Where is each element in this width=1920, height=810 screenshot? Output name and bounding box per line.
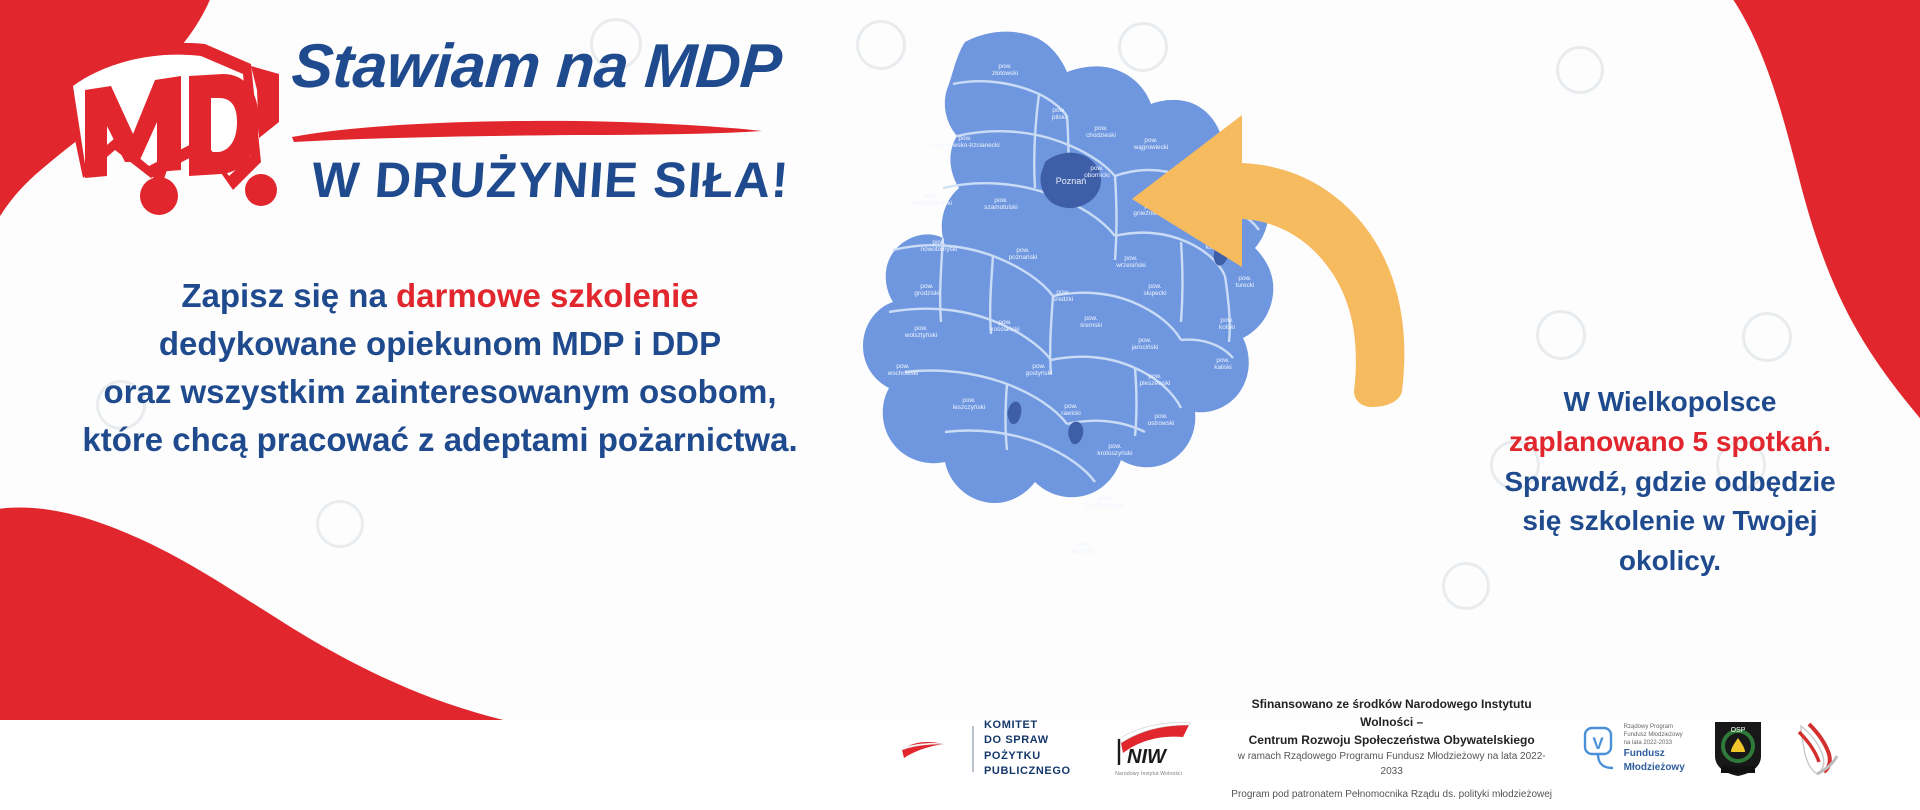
- svg-text:pow.: pow.: [994, 197, 1007, 204]
- svg-text:pilski: pilski: [1052, 114, 1066, 121]
- map-capital-label: Poznań: [1056, 176, 1087, 186]
- svg-text:szamotulski: szamotulski: [984, 204, 1017, 211]
- funding-text: Sfinansowano ze środków Narodowego Insty…: [1227, 695, 1557, 802]
- svg-text:NIW: NIW: [1127, 746, 1168, 768]
- right-line-1: W Wielkopolsce: [1450, 382, 1890, 422]
- fundusz-mlodziezowy-logo: V Rządowy Program Fundusz Młodzieżowy na…: [1583, 723, 1685, 774]
- svg-text:pow.: pow.: [924, 193, 937, 200]
- svg-text:pow.: pow.: [1076, 541, 1089, 548]
- komitet-line-2: DO SPRAW: [984, 733, 1071, 748]
- komitet-text: KOMITET DO SPRAW POŻYTKU PUBLICZNEGO: [984, 718, 1071, 779]
- komitet-line-3: POŻYTKU: [984, 749, 1071, 764]
- footer-divider: [972, 726, 974, 772]
- zosp-emblem-icon: [1791, 720, 1843, 778]
- svg-text:pow.: pow.: [962, 397, 975, 404]
- body-line-2: dedykowane opiekunom MDP i DDP: [60, 320, 820, 368]
- niw-logo: NIW Narodowy Instytut Wolności: [1097, 721, 1201, 777]
- decor-circle: [1556, 46, 1604, 94]
- svg-text:międzychodzki: międzychodzki: [910, 200, 952, 207]
- right-line-5: okolicy.: [1450, 541, 1890, 581]
- komitet-line-4: PUBLICZNEGO: [984, 764, 1071, 779]
- body-line-1: Zapisz się na darmowe szkolenie: [60, 272, 820, 320]
- svg-text:gostyński: gostyński: [1026, 370, 1053, 377]
- svg-text:ostrzeszowski: ostrzeszowski: [1085, 502, 1125, 509]
- svg-text:pow.: pow.: [1098, 495, 1111, 502]
- svg-text:rawicki: rawicki: [1061, 410, 1081, 417]
- body-line-4: które chcą pracować z adeptami pożarnict…: [60, 416, 820, 464]
- svg-text:czarnkowsko-trzcianecki: czarnkowsko-trzcianecki: [930, 142, 999, 149]
- body-line-1-highlight: darmowe szkolenie: [396, 277, 699, 314]
- right-line-2-highlight: zaplanowano 5 spotkań.: [1450, 422, 1890, 462]
- svg-text:złotowski: złotowski: [992, 70, 1018, 77]
- right-copy: W Wielkopolsce zaplanowano 5 spotkań. Sp…: [1450, 382, 1890, 581]
- svg-text:wolsztyński: wolsztyński: [904, 332, 937, 339]
- svg-text:pow.: pow.: [1064, 403, 1077, 410]
- svg-text:nowotomyski: nowotomyski: [921, 246, 958, 253]
- fundusz-top-1: Rządowy Program: [1624, 723, 1685, 731]
- osp-label: OSP: [1730, 727, 1745, 734]
- svg-text:śremski: śremski: [1080, 322, 1102, 329]
- page-title: Stawiam na MDP: [290, 36, 783, 98]
- svg-text:pow.: pow.: [998, 63, 1011, 70]
- mdp-logo: [55, 30, 295, 215]
- svg-text:leszczyński: leszczyński: [953, 404, 985, 411]
- svg-text:wschowski: wschowski: [887, 370, 919, 377]
- svg-text:pow.: pow.: [1084, 315, 1097, 322]
- svg-text:kępiński: kępiński: [1071, 548, 1094, 555]
- svg-text:pow.: pow.: [1090, 165, 1103, 172]
- funding-line-4: Program pod patronatem Pełnomocnika Rząd…: [1227, 787, 1557, 802]
- footer-logos: KOMITET DO SPRAW POŻYTKU PUBLICZNEGO NIW…: [900, 695, 1843, 802]
- svg-text:pow.: pow.: [1032, 363, 1045, 370]
- svg-text:poznański: poznański: [1009, 254, 1038, 261]
- svg-text:V: V: [1592, 734, 1604, 753]
- svg-text:krotoszyński: krotoszyński: [1097, 450, 1132, 457]
- body-line-1-plain: Zapisz się na: [181, 277, 396, 314]
- svg-text:pow.: pow.: [958, 135, 971, 142]
- fundusz-name-1: Fundusz: [1624, 747, 1685, 761]
- svg-text:pow.: pow.: [1052, 107, 1065, 114]
- osp-badge-icon: OSP: [1711, 718, 1765, 780]
- svg-text:pow.: pow.: [1016, 247, 1029, 254]
- funding-line-1: Sfinansowano ze środków Narodowego Insty…: [1227, 695, 1557, 731]
- fundusz-name-2: Młodzieżowy: [1624, 761, 1685, 775]
- svg-text:pow.: pow.: [920, 283, 933, 290]
- right-line-4: się szkolenie w Twojej: [1450, 501, 1890, 541]
- fundusz-top-2: Fundusz Młodzieżowy: [1624, 731, 1685, 739]
- svg-text:grodziski: grodziski: [914, 290, 939, 297]
- body-line-3: oraz wszystkim zainteresowanym osobom,: [60, 368, 820, 416]
- svg-text:pow.: pow.: [932, 239, 945, 246]
- poland-flag-icon: [900, 736, 946, 762]
- v-mark-icon: V: [1583, 726, 1617, 772]
- svg-text:pow.: pow.: [896, 363, 909, 370]
- svg-text:średzki: średzki: [1053, 296, 1073, 303]
- komitet-logo: KOMITET DO SPRAW POŻYTKU PUBLICZNEGO: [972, 718, 1071, 779]
- svg-text:pow.: pow.: [1056, 289, 1069, 296]
- funding-line-3: w ramach Rządowego Programu Fundusz Młod…: [1227, 749, 1557, 779]
- niw-subtitle: Narodowy Instytut Wolności: [1115, 771, 1182, 777]
- right-line-3: Sprawdź, gdzie odbędzie: [1450, 462, 1890, 502]
- fundusz-text: Rządowy Program Fundusz Młodzieżowy na l…: [1624, 723, 1685, 774]
- svg-text:pow.: pow.: [998, 319, 1011, 326]
- svg-text:pow.: pow.: [914, 325, 927, 332]
- decor-circle: [1536, 310, 1586, 360]
- svg-text:pow.: pow.: [1108, 443, 1121, 450]
- body-copy: Zapisz się na darmowe szkolenie dedykowa…: [60, 272, 820, 463]
- komitet-line-1: KOMITET: [984, 718, 1071, 733]
- banner-root: Stawiam na MDP W DRUŻYNIE SIŁA! Zapisz s…: [0, 0, 1920, 810]
- svg-text:kościański: kościański: [990, 326, 1019, 333]
- footer-bar: KOMITET DO SPRAW POŻYTKU PUBLICZNEGO NIW…: [0, 720, 1920, 810]
- fundusz-top-3: na lata 2022-2033: [1624, 739, 1685, 747]
- page-subtitle: W DRUŻYNIE SIŁA!: [310, 155, 791, 205]
- headline-underline: [288, 118, 766, 144]
- svg-text:obornicki: obornicki: [1084, 172, 1110, 179]
- funding-line-2: Centrum Rozwoju Społeczeństwa Obywatelsk…: [1227, 731, 1557, 749]
- decor-circle: [316, 500, 364, 548]
- decor-circle: [1742, 312, 1792, 362]
- svg-text:pow.: pow.: [1094, 125, 1107, 132]
- orange-arrow-icon: [1110, 95, 1440, 425]
